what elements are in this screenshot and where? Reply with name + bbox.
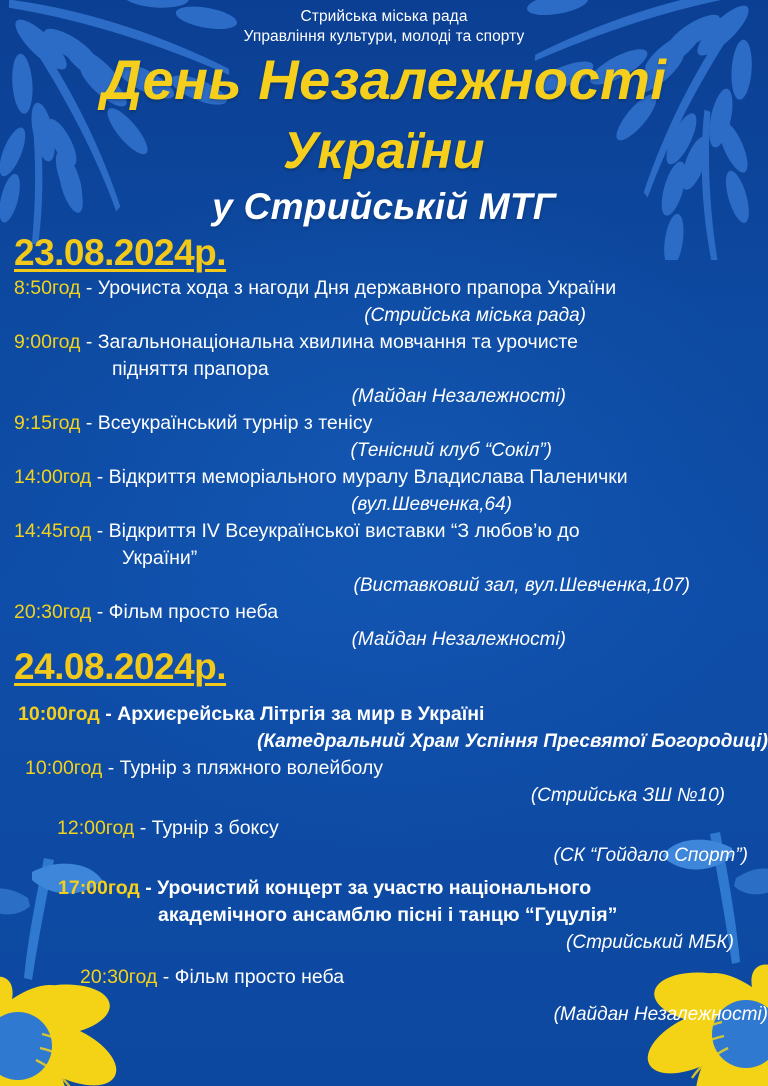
- event-dash: -: [140, 817, 147, 839]
- event-dash: -: [86, 277, 93, 299]
- event-dash: -: [97, 466, 104, 488]
- event-line: 10:00год - Турнір з пляжного волейболу: [25, 755, 768, 782]
- event-time: 14:00год: [14, 466, 91, 488]
- schedule-day-1: 8:50год - Урочиста хода з нагоди Дня дер…: [0, 275, 768, 653]
- schedule-item: 14:00год - Відкриття меморіального мурал…: [14, 464, 752, 518]
- schedule-item: 20:30год - Фільм просто неба (Майдан Нез…: [0, 964, 768, 1028]
- event-line: 14:00год - Відкриття меморіального мурал…: [14, 464, 752, 491]
- event-dash: -: [108, 757, 115, 779]
- event-dash: -: [163, 966, 170, 988]
- organization-header: Стрийська міська рада Управління культур…: [0, 0, 768, 47]
- event-venue: (СК “Гойдало Спорт”): [57, 842, 768, 869]
- event-line: 9:15год - Всеукраїнський турнір з тенісу: [14, 410, 752, 437]
- event-venue: (Тенісний клуб “Сокіл”): [14, 437, 752, 464]
- event-line: 20:30год - Фільм просто неба: [80, 964, 768, 991]
- organization-line-2: Управління культури, молоді та спорту: [0, 27, 768, 47]
- schedule-item: 20:30год - Фільм просто неба (Майдан Нез…: [14, 599, 752, 653]
- event-line: 14:45год - Відкриття IV Всеукраїнської в…: [14, 518, 752, 545]
- schedule-item: 9:15год - Всеукраїнський турнір з тенісу…: [14, 410, 752, 464]
- poster-title-line-2: України: [0, 123, 768, 179]
- event-line: 10:00год - Архиєрейська Літргія за мир в…: [18, 701, 768, 728]
- schedule-item: 10:00год - Архиєрейська Літргія за мир в…: [0, 701, 768, 755]
- event-venue: (Стрийська ЗШ №10): [25, 782, 768, 809]
- event-time: 9:00год: [14, 331, 80, 353]
- event-time: 10:00год: [18, 703, 100, 725]
- schedule-day-2: 10:00год - Архиєрейська Літргія за мир в…: [0, 701, 768, 1028]
- event-dash: -: [105, 703, 112, 725]
- event-time: 12:00год: [57, 817, 134, 839]
- poster-canvas: Стрийська міська рада Управління культур…: [0, 0, 768, 1086]
- event-venue: (вул.Шевченка,64): [14, 491, 752, 518]
- event-time: 17:00год: [58, 877, 140, 899]
- event-title: Відкриття IV Всеукраїнської виставки “З …: [109, 520, 580, 542]
- event-line: 9:00год - Загальнонаціональна хвилина мо…: [14, 329, 752, 356]
- event-time: 9:15год: [14, 412, 80, 434]
- date-heading-day-1: 23.08.2024р.: [0, 233, 768, 273]
- schedule-item: 8:50год - Урочиста хода з нагоди Дня дер…: [14, 275, 752, 329]
- event-line: 12:00год - Турнір з боксу: [57, 815, 768, 842]
- event-title: Турнір з боксу: [152, 817, 279, 839]
- event-venue: (Майдан Незалежності): [14, 626, 752, 653]
- event-venue: (Стрийський МБК): [58, 929, 768, 956]
- poster-title-line-1: День Незалежності: [0, 51, 768, 109]
- event-venue: (Майдан Незалежності): [14, 383, 752, 410]
- event-time: 10:00год: [25, 757, 102, 779]
- organization-line-1: Стрийська міська рада: [0, 7, 768, 27]
- event-line: 8:50год - Урочиста хода з нагоди Дня дер…: [14, 275, 752, 302]
- event-title: Урочистий концерт за участю національног…: [157, 877, 591, 899]
- event-title: Турнір з пляжного волейболу: [120, 757, 383, 779]
- event-title: Фільм просто неба: [175, 966, 344, 988]
- event-dash: -: [145, 877, 152, 899]
- event-dash: -: [97, 601, 104, 623]
- schedule-item: 12:00год - Турнір з боксу (СК “Гойдало С…: [0, 815, 768, 869]
- schedule-item: 17:00год - Урочистий концерт за участю н…: [0, 875, 768, 956]
- event-venue: (Майдан Незалежності): [80, 1001, 768, 1028]
- schedule-item: 9:00год - Загальнонаціональна хвилина мо…: [14, 329, 752, 410]
- poster-content: Стрийська міська рада Управління культур…: [0, 0, 768, 1086]
- event-time: 20:30год: [14, 601, 91, 623]
- event-venue: (Стрийська міська рада): [14, 302, 752, 329]
- event-title: Загальнонаціональна хвилина мовчання та …: [98, 331, 578, 353]
- event-dash: -: [86, 412, 93, 434]
- event-title: Відкриття меморіального муралу Владислав…: [109, 466, 628, 488]
- event-title: Всеукраїнський турнір з тенісу: [98, 412, 373, 434]
- event-title-continuation: підняття прапора: [14, 356, 752, 383]
- event-venue: (Катедральний Храм Успіння Пресвятої Бог…: [18, 728, 768, 755]
- event-time: 20:30год: [80, 966, 157, 988]
- schedule-item: 10:00год - Турнір з пляжного волейболу (…: [0, 755, 768, 809]
- event-title-continuation: академічного ансамблю пісні і танцю “Гуц…: [58, 902, 768, 929]
- event-dash: -: [86, 331, 93, 353]
- event-title: Архиєрейська Літргія за мир в Україні: [117, 703, 484, 725]
- date-heading-day-2: 24.08.2024р.: [0, 647, 768, 687]
- event-title: Урочиста хода з нагоди Дня державного пр…: [98, 277, 616, 299]
- event-time: 14:45год: [14, 520, 91, 542]
- event-time: 8:50год: [14, 277, 80, 299]
- event-title: Фільм просто неба: [109, 601, 278, 623]
- event-venue: (Виставковий зал, вул.Шевченка,107): [14, 572, 752, 599]
- schedule-item: 14:45год - Відкриття IV Всеукраїнської в…: [14, 518, 752, 599]
- event-line: 17:00год - Урочистий концерт за участю н…: [58, 875, 768, 902]
- event-line: 20:30год - Фільм просто неба: [14, 599, 752, 626]
- event-title-continuation: України”: [14, 545, 752, 572]
- event-dash: -: [97, 520, 104, 542]
- poster-title-line-3: у Стрийській МТГ: [0, 185, 768, 229]
